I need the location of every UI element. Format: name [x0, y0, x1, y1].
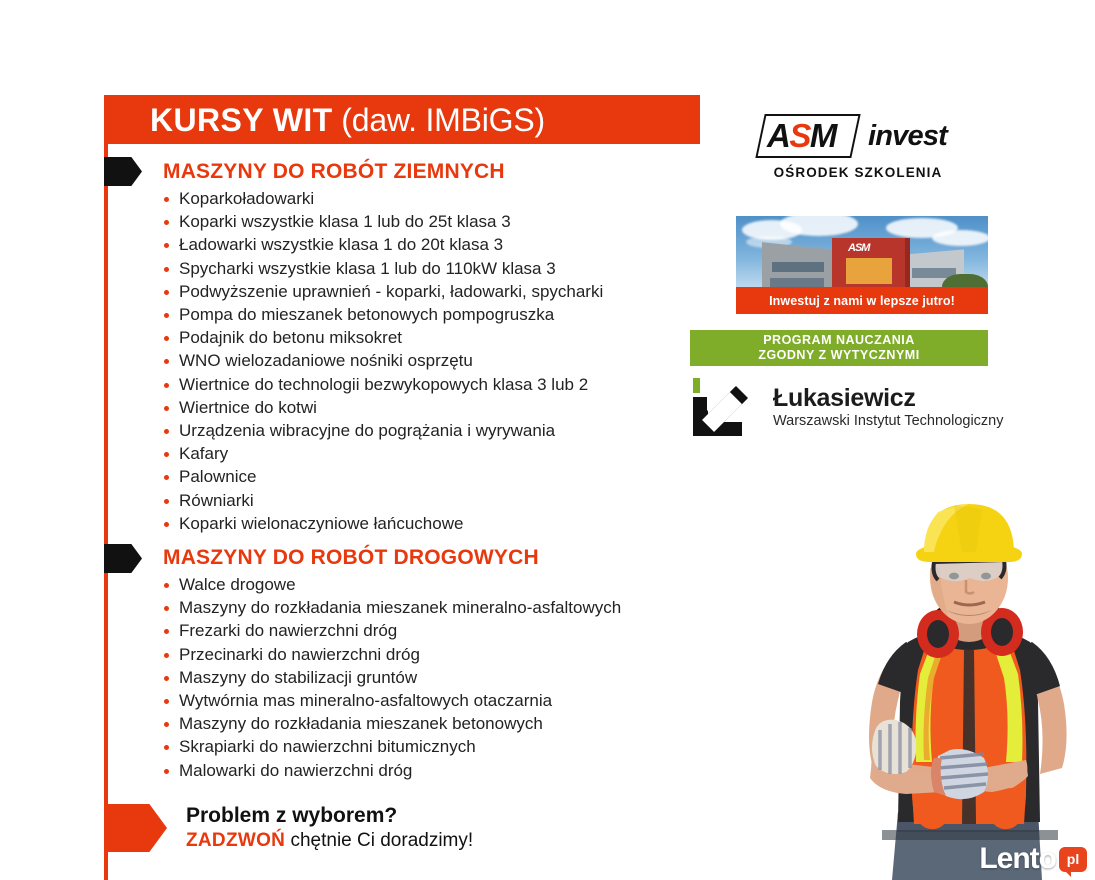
lento-bubble-icon: pl: [1059, 847, 1087, 872]
asm-logo-letters: ASM: [767, 116, 877, 156]
asm-logo-subtitle: OŚRODEK SZKOLENIA: [760, 165, 956, 180]
photo-banner-text: Inwestuj z nami w lepsze jutro!: [769, 294, 955, 308]
list-item: Maszyny do stabilizacji gruntów: [163, 666, 621, 689]
arrow-marker-roadworks: [104, 544, 142, 573]
arrow-marker-icon: [104, 804, 167, 852]
lukasiewicz-logo-icon: [690, 378, 762, 440]
list-roadworks: Walce drogowe Maszyny do rozkładania mie…: [163, 573, 621, 782]
list-item: Kafary: [163, 442, 603, 465]
list-item: WNO wielozadaniowe nośniki osprzętu: [163, 349, 603, 372]
list-item: Ładowarki wszystkie klasa 1 do 20t klasa…: [163, 233, 603, 256]
window-shape: [772, 262, 824, 272]
program-banner: PROGRAM NAUCZANIA ZGODNY Z WYTYCZNYMI: [690, 330, 988, 366]
worker-illustration: [842, 492, 1095, 880]
cta-line-1: Problem z wyborem?: [186, 803, 473, 828]
building-photo: ASM Inwestuj z nami w lepsze jutro!: [736, 216, 988, 314]
lukasiewicz-name: Łukasiewicz: [773, 384, 1003, 412]
program-banner-line-1: PROGRAM NAUCZANIA: [763, 333, 915, 348]
lukasiewicz-logo: Łukasiewicz Warszawski Instytut Technolo…: [690, 378, 995, 448]
asm-invest-logo: ASM invest OŚRODEK SZKOLENIA: [760, 112, 956, 180]
list-item: Palownice: [163, 465, 603, 488]
asm-letter-m: M: [810, 117, 836, 154]
list-item: Koparkoładowarki: [163, 187, 603, 210]
list-item: Koparki wszystkie klasa 1 lub do 25t kla…: [163, 210, 603, 233]
page-title-strong: KURSY WIT: [150, 102, 333, 138]
list-item: Spycharki wszystkie klasa 1 lub do 110kW…: [163, 257, 603, 280]
lukasiewicz-text: Łukasiewicz Warszawski Instytut Technolo…: [773, 384, 1003, 431]
asm-logo-word: invest: [868, 120, 947, 152]
lento-watermark: Lento pl: [979, 844, 1087, 874]
list-item: Wytwórnia mas mineralno-asfaltowych otac…: [163, 689, 621, 712]
asm-letter-s: S: [789, 117, 810, 154]
list-item: Malowarki do nawierzchni dróg: [163, 759, 621, 782]
list-item: Maszyny do rozkładania mieszanek betonow…: [163, 712, 621, 735]
cta-line-2: ZADZWOŃ chętnie Ci doradzimy!: [186, 828, 473, 853]
list-item: Wiertnice do technologii bezwykopowych k…: [163, 373, 603, 396]
list-item: Urządzenia wibracyjne do pogrążania i wy…: [163, 419, 603, 442]
lukasiewicz-subtitle: Warszawski Instytut Technologiczny: [773, 412, 1003, 431]
cta-phone-word: ZADZWOŃ: [186, 830, 285, 851]
section-title-roadworks: MASZYNY DO ROBÓT DROGOWYCH: [163, 546, 621, 570]
list-item: Podajnik do betonu miksokret: [163, 326, 603, 349]
lento-wordmark: Lento: [979, 844, 1056, 874]
list-item: Równiarki: [163, 489, 603, 512]
asm-logo-mark: ASM invest: [760, 112, 956, 160]
call-to-action: Problem z wyborem? ZADZWOŃ chętnie Ci do…: [186, 803, 473, 853]
program-banner-line-2: ZGODNY Z WYTYCZNYMI: [758, 348, 919, 363]
arrow-marker-cta: [104, 804, 167, 852]
construction-worker-photo: Lento pl: [842, 492, 1095, 880]
list-item: Pompa do mieszanek betonowych pompogrusz…: [163, 303, 603, 326]
asm-letter-a: A: [767, 117, 789, 154]
page-title-light: (daw. IMBiGS): [341, 102, 545, 138]
arrow-marker-icon: [104, 157, 142, 186]
list-item: Wiertnice do kotwi: [163, 396, 603, 419]
section-roadworks: MASZYNY DO ROBÓT DROGOWYCH Walce drogowe…: [163, 546, 621, 782]
photo-banner: Inwestuj z nami w lepsze jutro!: [736, 287, 988, 314]
arrow-marker-icon: [104, 544, 142, 573]
list-item: Frezarki do nawierzchni dróg: [163, 619, 621, 642]
page-title: KURSY WIT (daw. IMBiGS): [104, 104, 545, 136]
list-item: Maszyny do rozkładania mieszanek mineral…: [163, 596, 621, 619]
arrow-marker-earthworks: [104, 157, 142, 186]
list-earthworks: Koparkoładowarki Koparki wszystkie klasa…: [163, 187, 603, 535]
section-earthworks: MASZYNY DO ROBÓT ZIEMNYCH Koparkoładowar…: [163, 160, 603, 535]
header-bar: KURSY WIT (daw. IMBiGS): [104, 95, 700, 144]
cloud-shape: [932, 230, 988, 246]
list-item: Skrapiarki do nawierzchni bitumicznych: [163, 735, 621, 758]
flyer-page: KURSY WIT (daw. IMBiGS) MASZYNY DO ROBÓT…: [0, 0, 1095, 880]
list-item: Podwyższenie uprawnień - koparki, ładowa…: [163, 280, 603, 303]
list-item: Koparki wielonaczyniowe łańcuchowe: [163, 512, 603, 535]
building-asm-sign: ASM: [848, 242, 888, 255]
left-accent-rule: [104, 95, 108, 880]
lento-domain: pl: [1067, 852, 1079, 866]
list-item: Przecinarki do nawierzchni dróg: [163, 643, 621, 666]
cta-rest: chętnie Ci doradzimy!: [285, 830, 473, 851]
section-title-earthworks: MASZYNY DO ROBÓT ZIEMNYCH: [163, 160, 603, 184]
building-banner-sign: [846, 258, 892, 284]
list-item: Walce drogowe: [163, 573, 621, 596]
